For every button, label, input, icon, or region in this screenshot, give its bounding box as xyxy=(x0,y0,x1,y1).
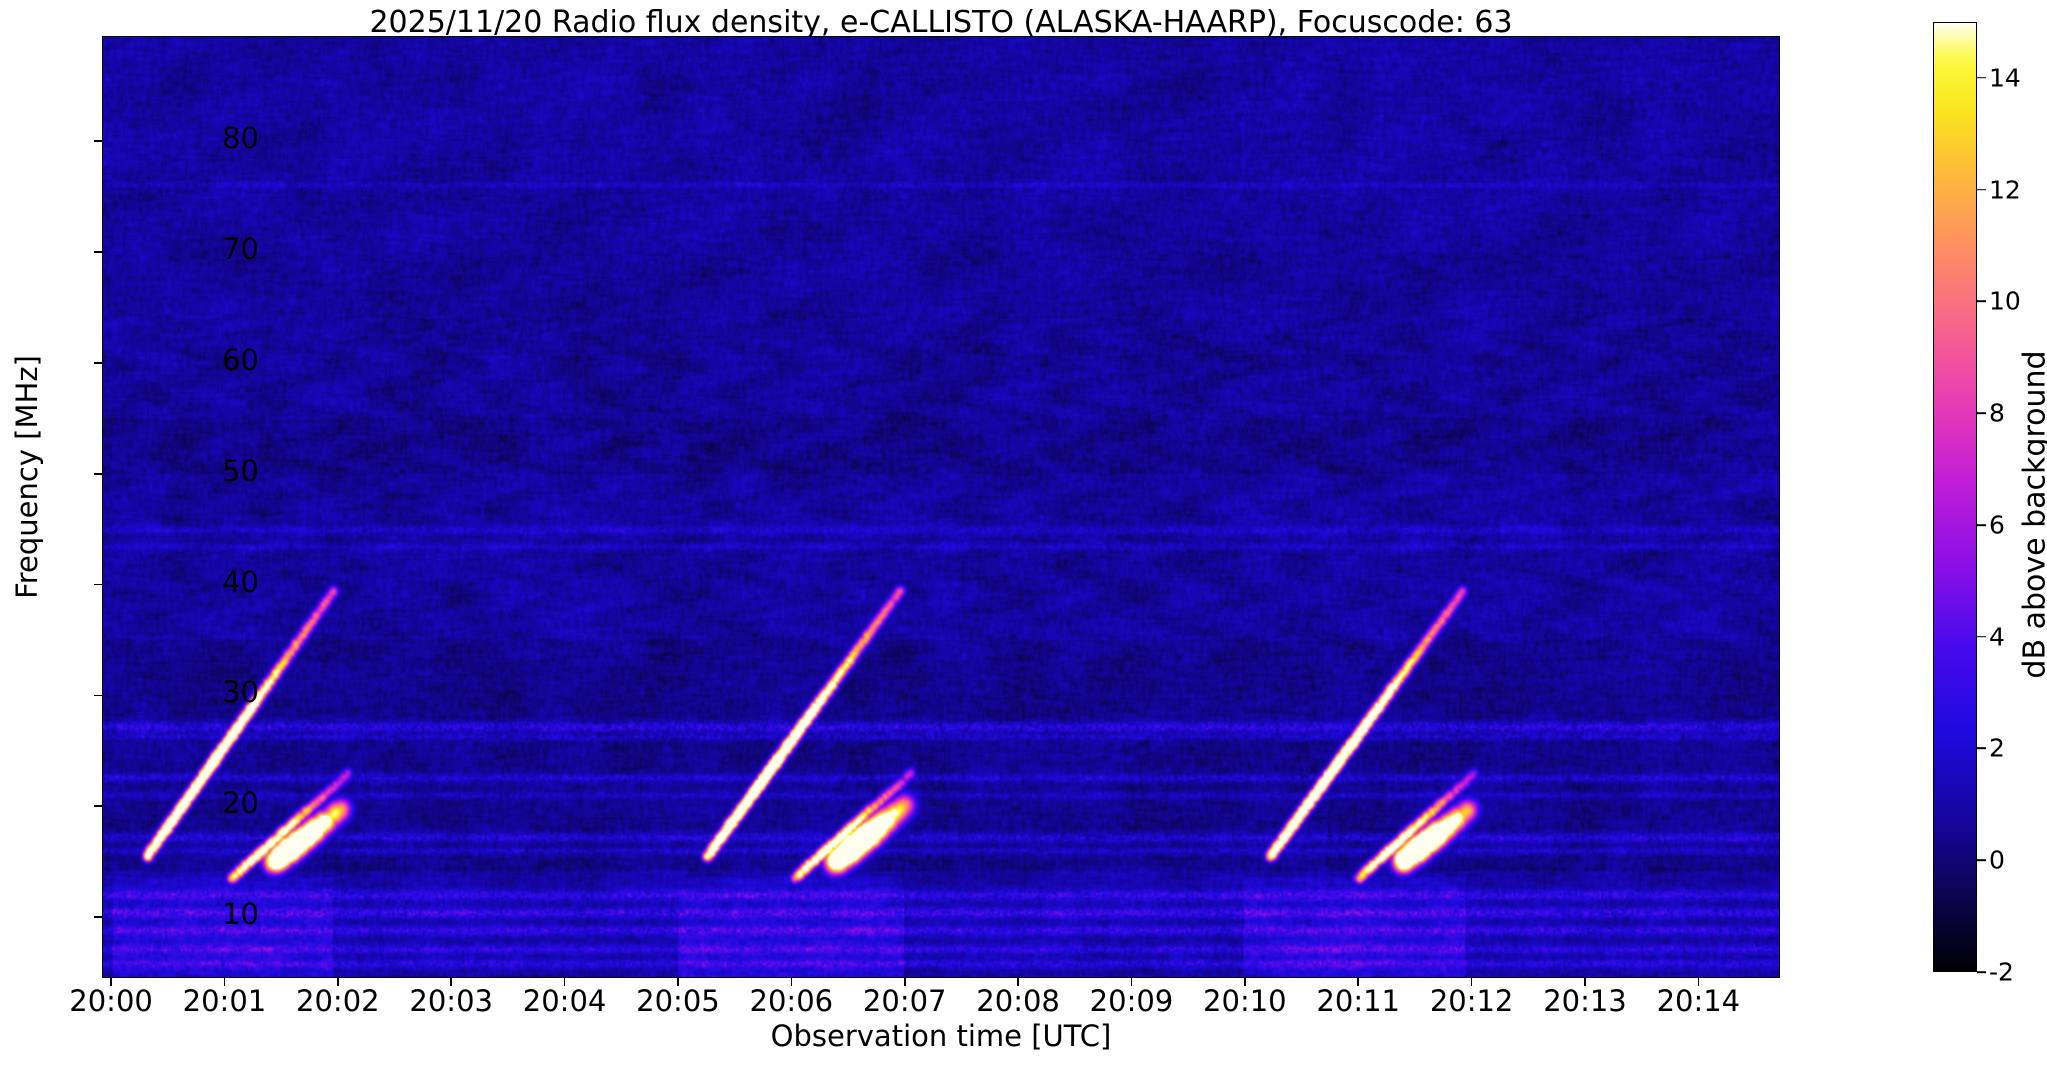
x-tick-mark xyxy=(450,978,452,986)
colorbar: -202468101214 xyxy=(1933,22,1977,972)
x-tick-mark xyxy=(564,978,566,986)
colorbar-tick-mark xyxy=(1977,748,1986,750)
y-tick-mark xyxy=(94,695,102,697)
page-title: 2025/11/20 Radio flux density, e-CALLIST… xyxy=(102,6,1780,40)
colorbar-tick-mark xyxy=(1977,77,1986,79)
x-tick-mark xyxy=(1131,978,1133,986)
y-tick-mark xyxy=(94,584,102,586)
y-tick-mark xyxy=(94,251,102,253)
y-tick-label: 80 xyxy=(59,121,259,155)
x-tick-mark xyxy=(1698,978,1700,986)
y-tick-label: 50 xyxy=(59,454,259,488)
colorbar-tick-label: 0 xyxy=(1989,846,2005,875)
x-tick-mark xyxy=(110,978,112,986)
colorbar-tick-mark xyxy=(1977,636,1986,638)
y-tick-label: 30 xyxy=(59,675,259,709)
colorbar-tick-mark xyxy=(1977,412,1986,414)
spectrogram-image xyxy=(103,37,1779,977)
colorbar-tick-label: 2 xyxy=(1989,734,2005,763)
x-tick-mark xyxy=(337,978,339,986)
colorbar-tick-label: 8 xyxy=(1989,399,2005,428)
colorbar-label: dB above background xyxy=(2018,40,2047,990)
x-tick-mark xyxy=(677,978,679,986)
y-tick-label: 20 xyxy=(59,786,259,820)
y-tick-mark xyxy=(94,140,102,142)
colorbar-tick-label: -2 xyxy=(1989,958,2014,987)
colorbar-tick-label: 10 xyxy=(1989,287,2021,316)
x-tick-mark xyxy=(1357,978,1359,986)
y-tick-mark xyxy=(94,362,102,364)
colorbar-tick-mark xyxy=(1977,301,1986,303)
x-tick-mark xyxy=(1471,978,1473,986)
x-tick-mark xyxy=(904,978,906,986)
x-tick-mark xyxy=(791,978,793,986)
x-axis-label: Observation time [UTC] xyxy=(102,1019,1780,1053)
colorbar-tick-label: 14 xyxy=(1989,63,2021,92)
y-tick-mark xyxy=(94,916,102,918)
y-tick-label: 10 xyxy=(59,897,259,931)
y-tick-mark xyxy=(94,805,102,807)
x-tick-mark xyxy=(1244,978,1246,986)
colorbar-gradient xyxy=(1933,22,1977,972)
y-tick-label: 40 xyxy=(59,565,259,599)
x-tick-mark xyxy=(1584,978,1586,986)
spectrogram-plot[interactable] xyxy=(102,36,1780,978)
colorbar-tick-label: 12 xyxy=(1989,175,2021,204)
y-tick-mark xyxy=(94,473,102,475)
colorbar-tick-mark xyxy=(1977,971,1986,973)
y-tick-label: 70 xyxy=(59,232,259,266)
colorbar-tick-mark xyxy=(1977,189,1986,191)
x-tick-label: 20:14 xyxy=(1618,984,1778,1018)
colorbar-tick-label: 6 xyxy=(1989,510,2005,539)
y-axis-label: Frequency [MHz] xyxy=(10,6,44,948)
x-tick-mark xyxy=(1017,978,1019,986)
y-tick-label: 60 xyxy=(59,343,259,377)
figure-canvas: 2025/11/20 Radio flux density, e-CALLIST… xyxy=(0,0,2047,1067)
colorbar-tick-mark xyxy=(1977,524,1986,526)
colorbar-tick-mark xyxy=(1977,859,1986,861)
x-tick-mark xyxy=(224,978,226,986)
colorbar-tick-label: 4 xyxy=(1989,622,2005,651)
